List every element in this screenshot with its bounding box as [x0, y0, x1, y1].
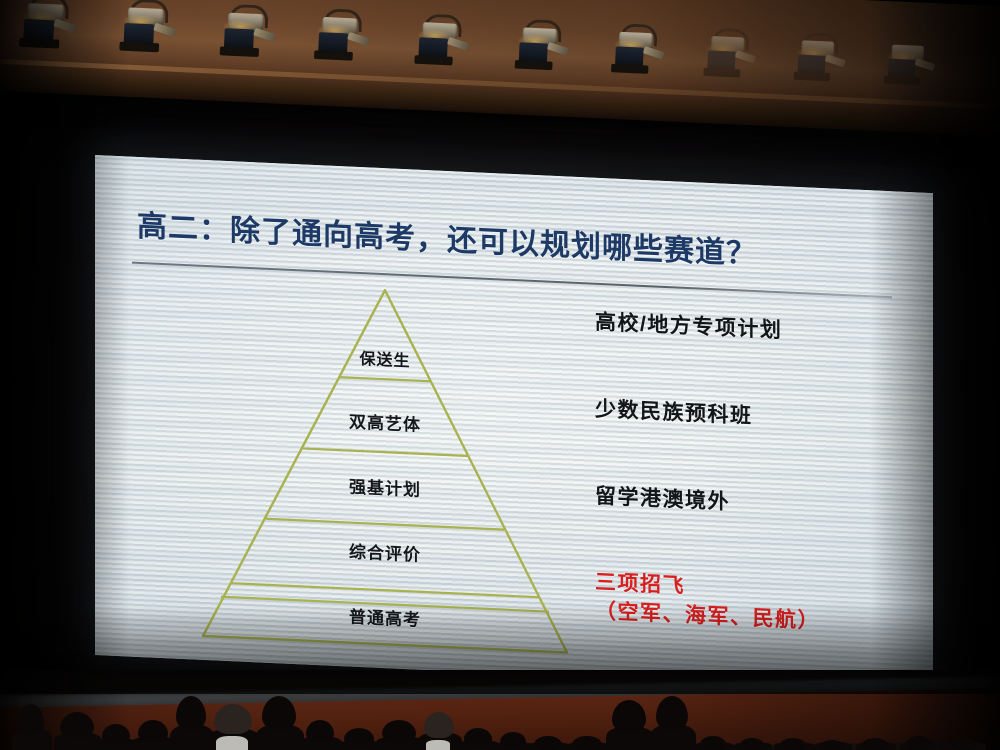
audience-head [382, 720, 416, 742]
pathway-item: 高校/地方专项计划 [595, 306, 782, 345]
audience-head [740, 738, 764, 750]
tier-pyramid: 保送生 双高艺体 强基计划 综合评价 普通高考 [195, 278, 575, 660]
audience-head [464, 728, 492, 746]
audience-head [60, 712, 94, 738]
audience-head [176, 696, 206, 730]
audience-head [612, 700, 646, 732]
pyramid-divider-3 [266, 519, 504, 530]
pathway-item: 少数民族预科班 [595, 393, 753, 430]
auditorium-scene: 高二：除了通向高考，还可以规划哪些赛道？ [0, 0, 1000, 750]
audience-head [862, 738, 888, 750]
pathway-item-highlighted-sub: （空军、海军、民航） [595, 595, 820, 635]
slide-title: 高二：除了通向高考，还可以规划哪些赛道？ [137, 201, 757, 273]
audience-head [572, 736, 602, 750]
audience-head [102, 724, 130, 744]
audience-clothing [426, 740, 450, 750]
audience-head [262, 696, 296, 730]
pyramid-divider-2 [302, 448, 468, 456]
slide-content: 高二：除了通向高考，还可以规划哪些赛道？ [95, 155, 933, 693]
audience-head [214, 704, 252, 734]
audience-head [344, 728, 374, 746]
alternative-pathways-list: 高校/地方专项计划 少数民族预科班 留学港澳境外 三项招飞 （空军、海军、民航） [595, 296, 915, 311]
audience-silhouettes [0, 694, 1000, 750]
audience-head [138, 720, 168, 742]
pathway-item: 留学港澳境外 [595, 480, 730, 516]
audience-head [656, 696, 688, 730]
audience-head [306, 720, 334, 742]
pyramid-divider-1 [339, 377, 431, 381]
audience-head [424, 712, 454, 738]
audience-head [18, 704, 44, 734]
audience-head [906, 736, 932, 750]
audience-clothing [216, 736, 248, 750]
pyramid-divider-4 [231, 583, 539, 597]
led-presentation-screen[interactable]: 高二：除了通向高考，还可以规划哪些赛道？ [95, 155, 933, 693]
screen-area: 高二：除了通向高考，还可以规划哪些赛道？ [0, 0, 1000, 750]
audience-head [780, 738, 806, 750]
audience-head [820, 740, 844, 750]
audience-head [700, 736, 726, 750]
audience-head [500, 732, 526, 748]
audience-head [534, 736, 562, 750]
audience-head [950, 738, 978, 750]
